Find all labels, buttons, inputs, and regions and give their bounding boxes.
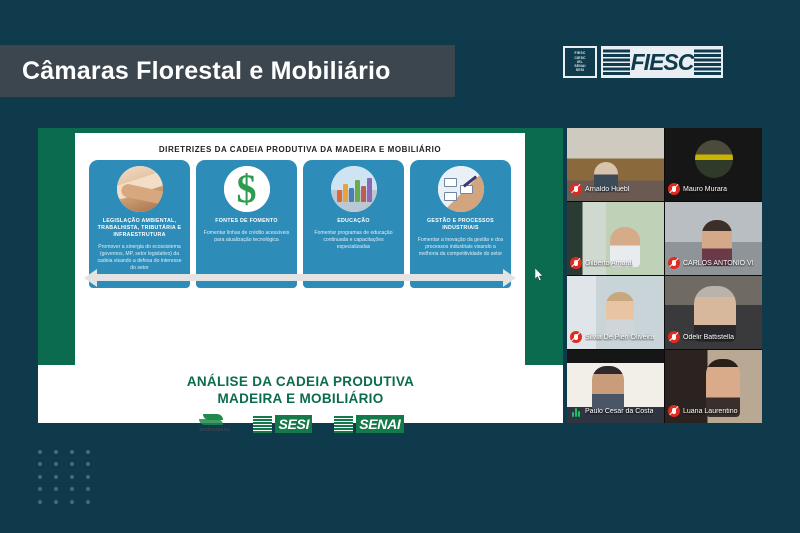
guideline-card-gestao: GESTÃO E PROCESSOS INDUSTRIAIS Fomentar … bbox=[410, 160, 511, 288]
participant-tile[interactable]: Mauro Murara bbox=[665, 128, 762, 201]
participant-tile[interactable]: Gilberto Amaral bbox=[567, 202, 664, 275]
participant-name: Paulo Cesar da Costa bbox=[585, 408, 653, 415]
slide-footer-title-line2: MADEIRA E MOBILIÁRIO bbox=[38, 390, 563, 407]
slide-footer-panel: ANÁLISE DA CADEIA PRODUTIVA MADEIRA E MO… bbox=[38, 365, 563, 423]
participant-name: Luana Laurentino bbox=[683, 408, 738, 415]
participant-name: Silvia De Pieri Oliveira bbox=[585, 334, 654, 341]
card-title: FONTES DE FOMENTO bbox=[211, 218, 281, 225]
card-body: Fomentar linhas de crédito acessíveis pa… bbox=[196, 230, 297, 244]
slide-content-panel: DIRETRIZES DA CADEIA PRODUTIVA DA MADEIR… bbox=[75, 133, 525, 365]
handshake-icon bbox=[117, 166, 163, 212]
senai-logo: SENAI bbox=[334, 415, 403, 433]
page-title-plate: Câmaras Florestal e Mobiliário bbox=[0, 45, 455, 97]
slide-heading: DIRETRIZES DA CADEIA PRODUTIVA DA MADEIR… bbox=[75, 133, 525, 154]
participant-name: Arnaldo Huebl bbox=[585, 186, 629, 193]
sesi-stripes-icon bbox=[253, 415, 272, 433]
card-body: Promover a sinergia do ecossistema (gove… bbox=[89, 244, 190, 272]
partner-logo-row: sindimadeira SESI SENAI bbox=[38, 414, 563, 433]
participant-tile[interactable]: Odelir Battistella bbox=[665, 276, 762, 349]
participant-name: Mauro Murara bbox=[683, 186, 727, 193]
mic-muted-icon[interactable] bbox=[570, 331, 582, 343]
card-title: LEGISLAÇÃO AMBIENTAL, TRABALHISTA, TRIBU… bbox=[89, 218, 190, 239]
guideline-card-educacao: EDUCAÇÃO Fomentar programas de educação … bbox=[303, 160, 404, 288]
guidelines-card-row: LEGISLAÇÃO AMBIENTAL, TRABALHISTA, TRIBU… bbox=[75, 154, 525, 288]
guideline-card-legislacao: LEGISLAÇÃO AMBIENTAL, TRABALHISTA, TRIBU… bbox=[89, 160, 190, 288]
dollar-sign-icon: $ bbox=[224, 166, 270, 212]
participant-video-grid: Arnaldo Huebl Mauro Murara Gilberto Amar… bbox=[567, 128, 762, 423]
fiesc-wordmark-text: FIESC bbox=[630, 49, 695, 76]
sindimadeira-logo: sindimadeira bbox=[197, 414, 231, 433]
sesi-logo: SESI bbox=[253, 415, 312, 433]
senai-wordmark: SENAI bbox=[356, 415, 403, 433]
slide-footer-title-line1: ANÁLISE DA CADEIA PRODUTIVA bbox=[38, 373, 563, 390]
participant-tile[interactable]: Silvia De Pieri Oliveira bbox=[567, 276, 664, 349]
card-body: Fomentar a inovação da gestão e dos proc… bbox=[410, 237, 511, 258]
mic-muted-icon[interactable] bbox=[570, 257, 582, 269]
sesi-wordmark: SESI bbox=[275, 415, 312, 433]
fiesc-logo: FIESC CIESC IEL SENAI SESI FIESC bbox=[563, 46, 723, 78]
mic-muted-icon[interactable] bbox=[668, 183, 680, 195]
mic-muted-icon[interactable] bbox=[668, 257, 680, 269]
mic-muted-icon[interactable] bbox=[668, 331, 680, 343]
education-chart-icon bbox=[331, 166, 377, 212]
sindimadeira-wordmark: sindimadeira bbox=[199, 427, 230, 433]
guideline-card-fomento: $ FONTES DE FOMENTO Fomentar linhas de c… bbox=[196, 160, 297, 288]
fiesc-entity-line: SESI bbox=[576, 68, 585, 72]
participant-tile[interactable]: Arnaldo Huebl bbox=[567, 128, 664, 201]
participant-name: Gilberto Amaral bbox=[585, 260, 633, 267]
card-title: GESTÃO E PROCESSOS INDUSTRIAIS bbox=[410, 218, 511, 232]
shared-presentation-slide[interactable]: DIRETRIZES DA CADEIA PRODUTIVA DA MADEIR… bbox=[38, 128, 563, 423]
participant-name: CARLOS ANTONIO VI bbox=[683, 260, 754, 267]
participant-tile[interactable]: Paulo Cesar da Costa bbox=[567, 350, 664, 423]
participant-tile[interactable]: Luana Laurentino bbox=[665, 350, 762, 423]
card-title: EDUCAÇÃO bbox=[333, 218, 374, 225]
mic-muted-icon[interactable] bbox=[668, 405, 680, 417]
participant-tile[interactable]: CARLOS ANTONIO VI bbox=[665, 202, 762, 275]
mic-active-icon[interactable] bbox=[570, 405, 582, 417]
leaf-icon bbox=[197, 414, 231, 426]
flowchart-hand-icon bbox=[438, 166, 484, 212]
top-background-strip bbox=[0, 0, 800, 40]
participant-name: Odelir Battistella bbox=[683, 334, 734, 341]
mic-muted-icon[interactable] bbox=[570, 183, 582, 195]
fiesc-logo-entities-box: FIESC CIESC IEL SENAI SESI bbox=[563, 46, 597, 78]
fiesc-wordmark: FIESC bbox=[601, 46, 723, 78]
mouse-cursor bbox=[535, 268, 545, 282]
card-body: Fomentar programas de educação continuad… bbox=[303, 230, 404, 251]
senai-stripes-icon bbox=[334, 415, 353, 433]
page-title: Câmaras Florestal e Mobiliário bbox=[0, 57, 391, 86]
decorative-dot-grid bbox=[38, 450, 102, 512]
